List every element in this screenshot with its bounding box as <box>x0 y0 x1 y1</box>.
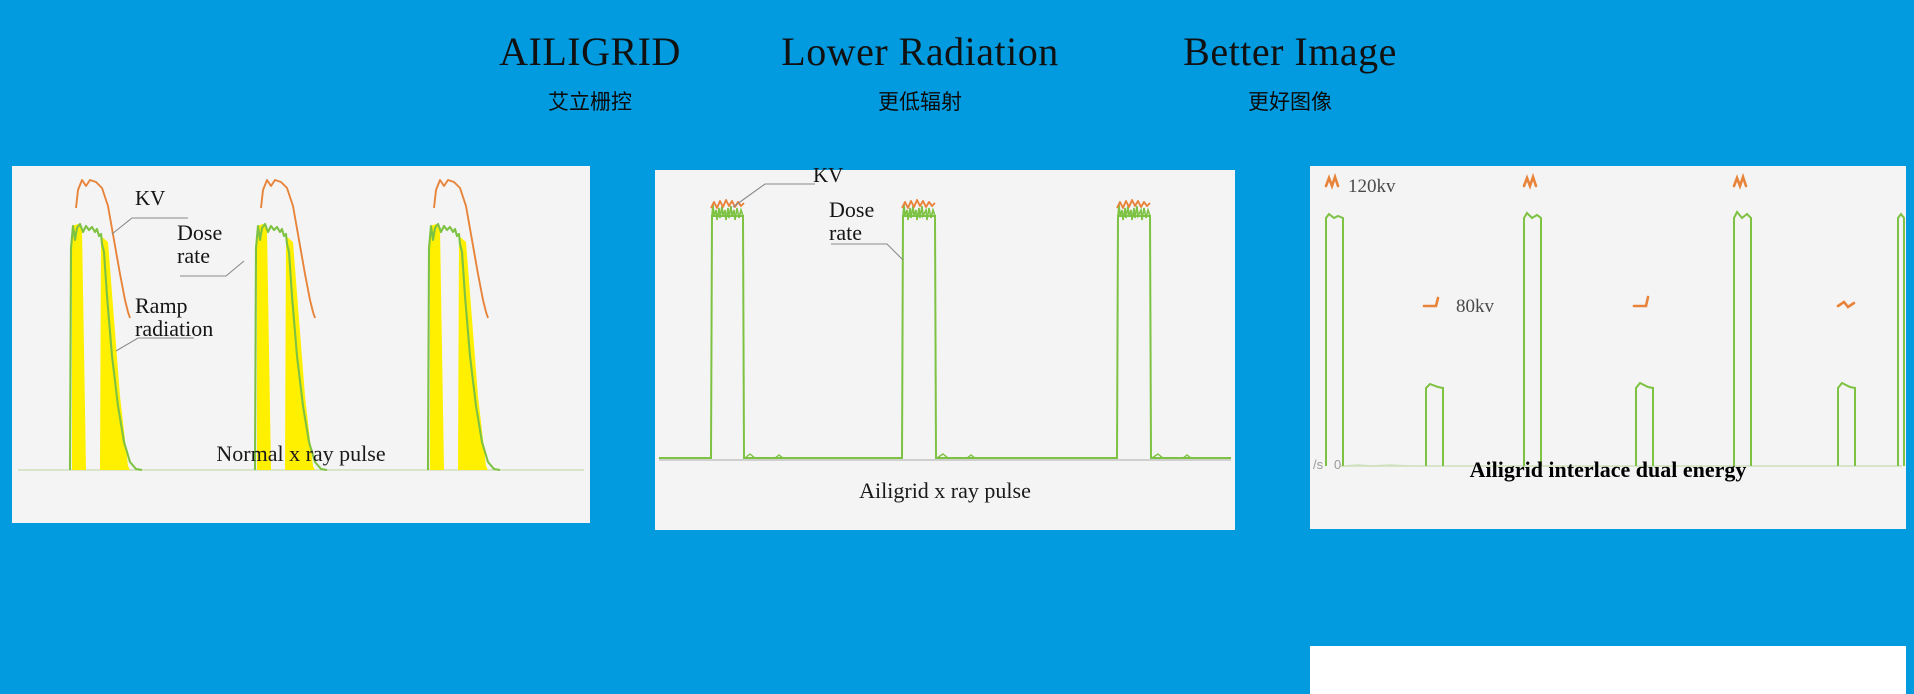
caption-band <box>1310 646 1906 694</box>
panel-ailigrid-x-ray-pulse: KV Dose rate Ailigrid x ray pulse <box>655 170 1235 530</box>
ramp-fill-leading-1 <box>72 224 86 470</box>
chart-ailigrid-x-ray-pulse <box>655 170 1235 530</box>
panel-normal-x-ray-pulse: KV Dose rate Ramp radiation Normal x ray… <box>12 166 590 523</box>
legend-120kv: 120kv <box>1348 176 1396 198</box>
headline-column-better-image: Better Image 更好图像 <box>1120 28 1460 116</box>
ramp-fill-leading-2 <box>257 224 271 470</box>
pulse-group-2 <box>795 200 995 458</box>
headline-cn-2: 更好图像 <box>1120 86 1460 116</box>
caption-normal-x-ray-pulse: Normal x ray pulse <box>12 441 590 467</box>
headline-banner: AILIGRID 艾立栅控 Lower Radiation 更低辐射 Bette… <box>0 28 1914 128</box>
ramp-fill-leading-3 <box>430 224 444 470</box>
kv-marker-low-1 <box>1424 298 1438 306</box>
low-energy-pulse-3 <box>1838 383 1855 466</box>
annotation-kv: KV <box>813 164 843 186</box>
pulse-group-1 <box>70 180 142 470</box>
low-energy-pulse-1 <box>1426 384 1443 466</box>
headline-column-lower-radiation: Lower Radiation 更低辐射 <box>740 28 1100 116</box>
annotation-dose-rate: Dose rate <box>177 221 222 267</box>
headline-cn-0: 艾立栅控 <box>440 86 740 116</box>
headline-column-ailigrid: AILIGRID 艾立栅控 <box>440 28 740 116</box>
pulse-group-1 <box>659 200 795 458</box>
kv-marker-high-1 <box>1326 177 1338 186</box>
caption-ailigrid-interlace-dual-energy: Ailigrid interlace dual energy <box>1310 457 1906 483</box>
headline-en-1: Lower Radiation <box>740 28 1100 75</box>
pulse-group-2 <box>255 180 327 470</box>
chart-normal-x-ray-pulse <box>12 166 590 523</box>
kv-marker-low-3 <box>1838 302 1854 307</box>
leader-line-dose-rate <box>831 244 903 260</box>
kv-marker-high-3 <box>1734 177 1746 186</box>
kv-marker-low-2 <box>1634 297 1648 306</box>
dose-rate-pulse-3 <box>995 216 1231 458</box>
headline-en-0: AILIGRID <box>440 28 740 75</box>
pulse-group-3 <box>428 180 500 470</box>
legend-80kv: 80kv <box>1456 296 1494 318</box>
annotation-ramp-radiation: Ramp radiation <box>135 294 213 340</box>
pulse-group-3 <box>995 200 1231 458</box>
high-energy-pulse-1 <box>1326 214 1343 466</box>
kv-marker-high-2 <box>1524 177 1536 186</box>
kv-trace-3 <box>1117 200 1150 208</box>
low-energy-pulse-2 <box>1636 383 1653 466</box>
annotation-dose-rate: Dose rate <box>829 198 874 244</box>
high-energy-pulse-4 <box>1898 214 1904 466</box>
caption-ailigrid-x-ray-pulse: Ailigrid x ray pulse <box>655 478 1235 504</box>
kv-trace-2 <box>902 200 935 208</box>
kv-trace-1 <box>711 200 744 208</box>
headline-en-2: Better Image <box>1120 28 1460 75</box>
dose-rate-pulse-1 <box>659 216 795 458</box>
high-energy-pulse-2 <box>1524 213 1541 466</box>
panel-ailigrid-interlace-dual-energy: 120kv 80kv /s 0 Ailigrid interlace dual … <box>1310 166 1906 529</box>
high-energy-pulse-3 <box>1734 212 1751 466</box>
headline-cn-1: 更低辐射 <box>740 86 1100 116</box>
annotation-kv: KV <box>135 187 165 209</box>
leader-line-kv <box>733 184 815 207</box>
